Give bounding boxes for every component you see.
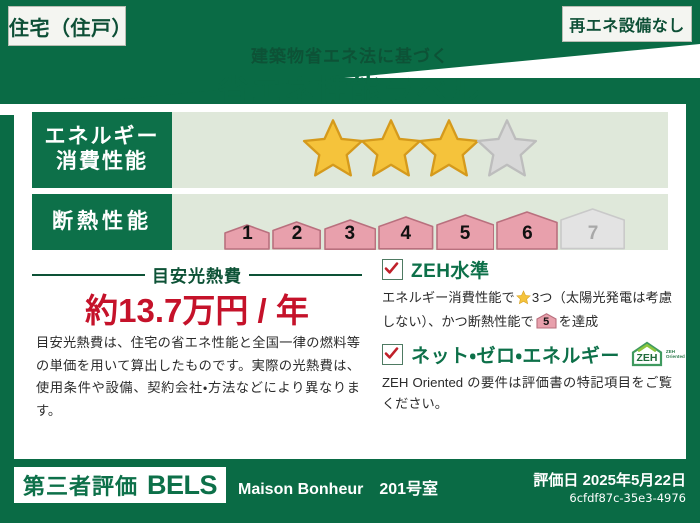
insulation-grade-badge: 2 <box>272 221 321 250</box>
insulation-grade-badge: 1 <box>224 224 270 250</box>
bels-badge-jp: 第三者評価 <box>23 469 138 501</box>
energy-label-line1: エネルギー <box>45 125 160 150</box>
checkbox-checked-icon <box>382 259 403 280</box>
insulation-grade-value: 7 <box>588 223 599 250</box>
rule-left <box>32 274 145 276</box>
inline-star-icon <box>516 293 531 308</box>
energy-performance-row: エネルギー 消費性能 <box>32 112 668 188</box>
insulation-grade-value: 3 <box>345 223 356 250</box>
energy-label-line2: 消費性能 <box>56 150 148 175</box>
star-empty-icon <box>476 117 538 184</box>
insulation-grade-badge: 3 <box>324 219 376 250</box>
rule-right <box>249 274 362 276</box>
zeh-desc-star-count: 3つ（太陽光発電 <box>532 290 632 305</box>
housing-type-tag: 住宅（住戸） <box>8 6 126 46</box>
property-name: Maison Bonheur 201号室 <box>238 475 438 499</box>
energy-performance-label: エネルギー 消費性能 <box>32 112 172 188</box>
star-filled-icon <box>360 117 422 184</box>
svg-text:ZEH: ZEH <box>636 352 657 364</box>
evaluation-id: 6cfdf87c-35e3-4976 <box>569 491 686 505</box>
insulation-grade-value: 2 <box>292 223 303 250</box>
energy-performance-label: 住宅（住戸） 再エネ設備なし 建築物省エネ法に基づく 省エネ性能ラベル エネルギ… <box>0 0 700 523</box>
energy-star-rating <box>172 112 668 188</box>
insulation-grade-value: 5 <box>460 223 471 250</box>
insulation-grade-scale: 1234567 <box>172 194 668 250</box>
insulation-grade-badge: 4 <box>378 216 434 250</box>
zeh-netzero-block: ネット・ゼロ・エネルギー ZEH ZEH Oriented ZEH Ori <box>382 341 672 415</box>
zeh-netzero-title: ネット・ゼロ・エネルギー <box>411 341 620 368</box>
checkbox-checked-icon <box>382 344 403 365</box>
zeh-desc-part3: を達成 <box>559 314 599 329</box>
utility-cost-amount: 約13.7万円 / 年 <box>32 284 362 332</box>
evaluation-date-value: 2025年5月22日 <box>583 472 686 489</box>
zeh-standard-title: ZEH水準 <box>411 256 490 283</box>
zeh-panel: ZEH水準 エネルギー消費性能で3つ（太陽光発電は考慮しない）、かつ断熱性能で5… <box>382 256 672 423</box>
zeh-standard-block: ZEH水準 エネルギー消費性能で3つ（太陽光発電は考慮しない）、かつ断熱性能で5… <box>382 256 672 333</box>
inline-grade-badge: 5 <box>536 313 557 329</box>
star-filled-icon <box>302 117 364 184</box>
utility-cost-note: 目安光熱費は、住宅の省エネ性能と全国一律の燃料等の単価を用いて算出したものです。… <box>36 332 360 423</box>
insulation-grade-value: 1 <box>242 223 253 250</box>
label-body: エネルギー 消費性能 断熱性能 1234567 目安光熱費 約13.7万円 / … <box>14 104 686 459</box>
zeh-logo-sub-line2: Oriented <box>666 354 685 359</box>
insulation-grade-badge: 6 <box>496 211 558 250</box>
bels-badge: 第三者評価 BELS <box>14 467 226 503</box>
zeh-standard-description: エネルギー消費性能で3つ（太陽光発電は考慮しない）、かつ断熱性能で5を達成 <box>382 287 672 333</box>
evaluation-date-label: 評価日 <box>533 472 578 489</box>
insulation-grade-value: 4 <box>401 223 412 250</box>
bels-badge-en: BELS <box>147 470 217 501</box>
zeh-oriented-logo: ZEH ZEH Oriented <box>630 341 685 367</box>
insulation-performance-row: 断熱性能 1234567 <box>32 194 668 250</box>
renewable-equipment-tag: 再エネ設備なし <box>562 6 692 42</box>
header-subtitle: 建築物省エネ法に基づく <box>0 42 700 67</box>
star-filled-icon <box>418 117 480 184</box>
inline-grade-value: 5 <box>536 314 557 332</box>
insulation-performance-label: 断熱性能 <box>32 194 172 250</box>
zeh-netzero-description: ZEH Oriented の要件は評価書の特記項目をご覧ください。 <box>382 372 672 415</box>
zeh-standard-header: ZEH水準 <box>382 256 672 283</box>
label-footer: 第三者評価 BELS Maison Bonheur 201号室 評価日 2025… <box>0 459 700 523</box>
evaluation-date: 評価日 2025年5月22日 <box>533 469 686 490</box>
insulation-grade-badge: 7 <box>560 208 625 250</box>
zeh-netzero-header: ネット・ゼロ・エネルギー ZEH ZEH Oriented <box>382 341 672 368</box>
insulation-grade-value: 6 <box>522 223 533 250</box>
insulation-grade-badge: 5 <box>436 214 495 250</box>
zeh-desc-part1: エネルギー消費性能で <box>382 290 515 305</box>
zeh-logo-subtext: ZEH Oriented <box>666 349 685 359</box>
